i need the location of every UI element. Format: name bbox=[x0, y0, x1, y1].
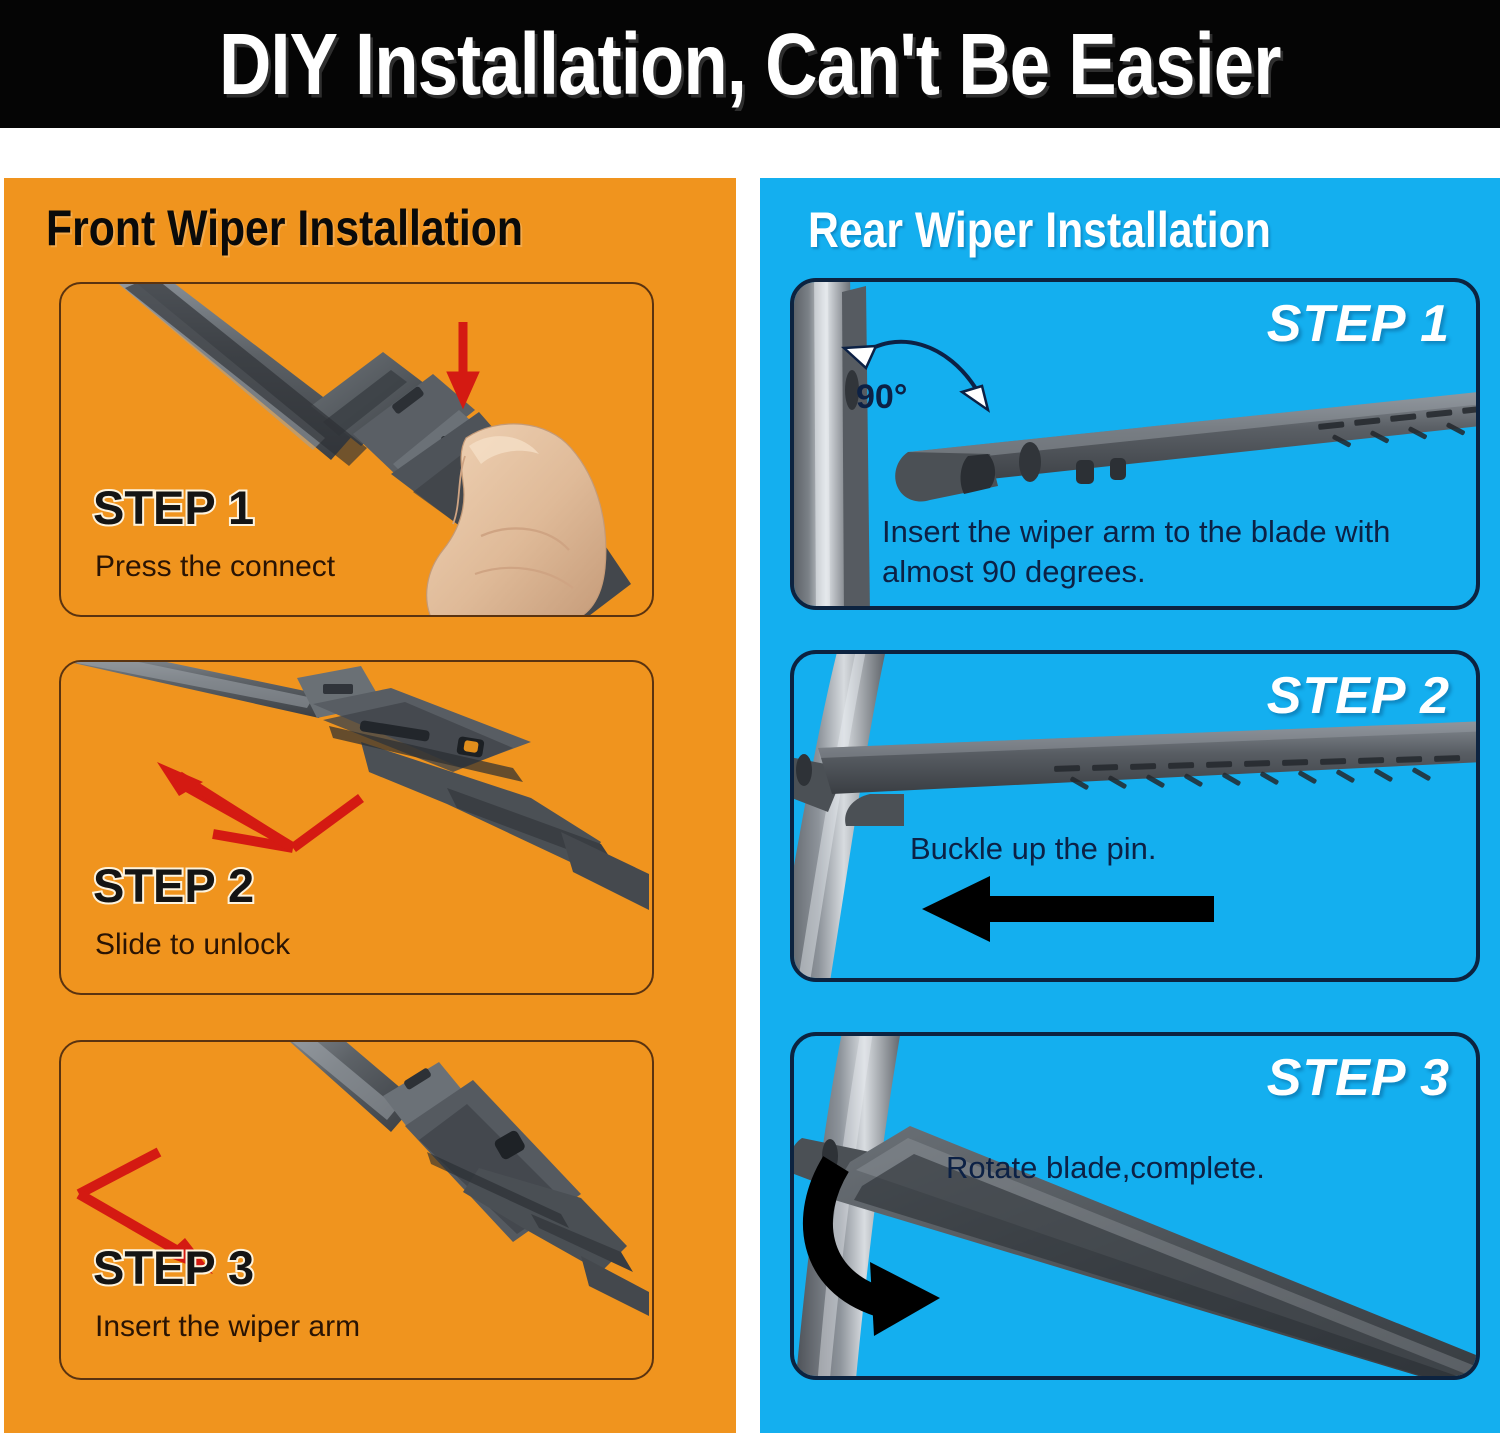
front-step-1-caption: Press the connect bbox=[95, 550, 335, 584]
rear-step-3-label: STEP 3 bbox=[1267, 1048, 1450, 1108]
rear-step-3-caption: Rotate blade,complete. bbox=[946, 1148, 1265, 1188]
rear-step-2-caption: Buckle up the pin. bbox=[910, 829, 1156, 869]
rear-step-3-box: STEP 3 Rotate blade,complete. bbox=[790, 1032, 1480, 1380]
rear-step-1-box: 90° STEP 1 Insert the wiper arm to the b… bbox=[790, 278, 1480, 610]
header-banner: DIY Installation, Can't Be Easier bbox=[0, 0, 1500, 128]
front-step-3-box: STEP 3 Insert the wiper arm bbox=[59, 1040, 654, 1380]
rear-step-1-angle-annotation: 90° bbox=[836, 330, 1026, 440]
rear-step-1-label: STEP 1 bbox=[1267, 294, 1450, 354]
rear-wiper-panel: Rear Wiper Installation bbox=[760, 178, 1500, 1433]
front-step-3-label: STEP 3 bbox=[93, 1240, 254, 1295]
page-title: DIY Installation, Can't Be Easier bbox=[219, 13, 1281, 115]
front-step-2-label: STEP 2 bbox=[93, 858, 254, 913]
front-step-1-label: STEP 1 bbox=[93, 480, 254, 535]
rear-step-1-caption: Insert the wiper arm to the blade with a… bbox=[882, 512, 1480, 591]
rear-step-2-label: STEP 2 bbox=[1267, 666, 1450, 726]
rear-panel-heading: Rear Wiper Installation bbox=[808, 201, 1271, 259]
front-step-2-box: STEP 2 Slide to unlock bbox=[59, 660, 654, 995]
front-panel-heading: Front Wiper Installation bbox=[46, 199, 523, 257]
front-wiper-panel: Front Wiper Installation bbox=[4, 178, 736, 1433]
front-step-3-caption: Insert the wiper arm bbox=[95, 1310, 360, 1344]
front-step-1-box: STEP 1 Press the connect bbox=[59, 282, 654, 617]
front-step-2-caption: Slide to unlock bbox=[95, 928, 290, 962]
infographic-root: DIY Installation, Can't Be Easier Front … bbox=[0, 0, 1500, 1433]
rear-step-1-angle-value: 90° bbox=[856, 378, 907, 417]
rear-step-2-box: STEP 2 Buckle up the pin. bbox=[790, 650, 1480, 982]
